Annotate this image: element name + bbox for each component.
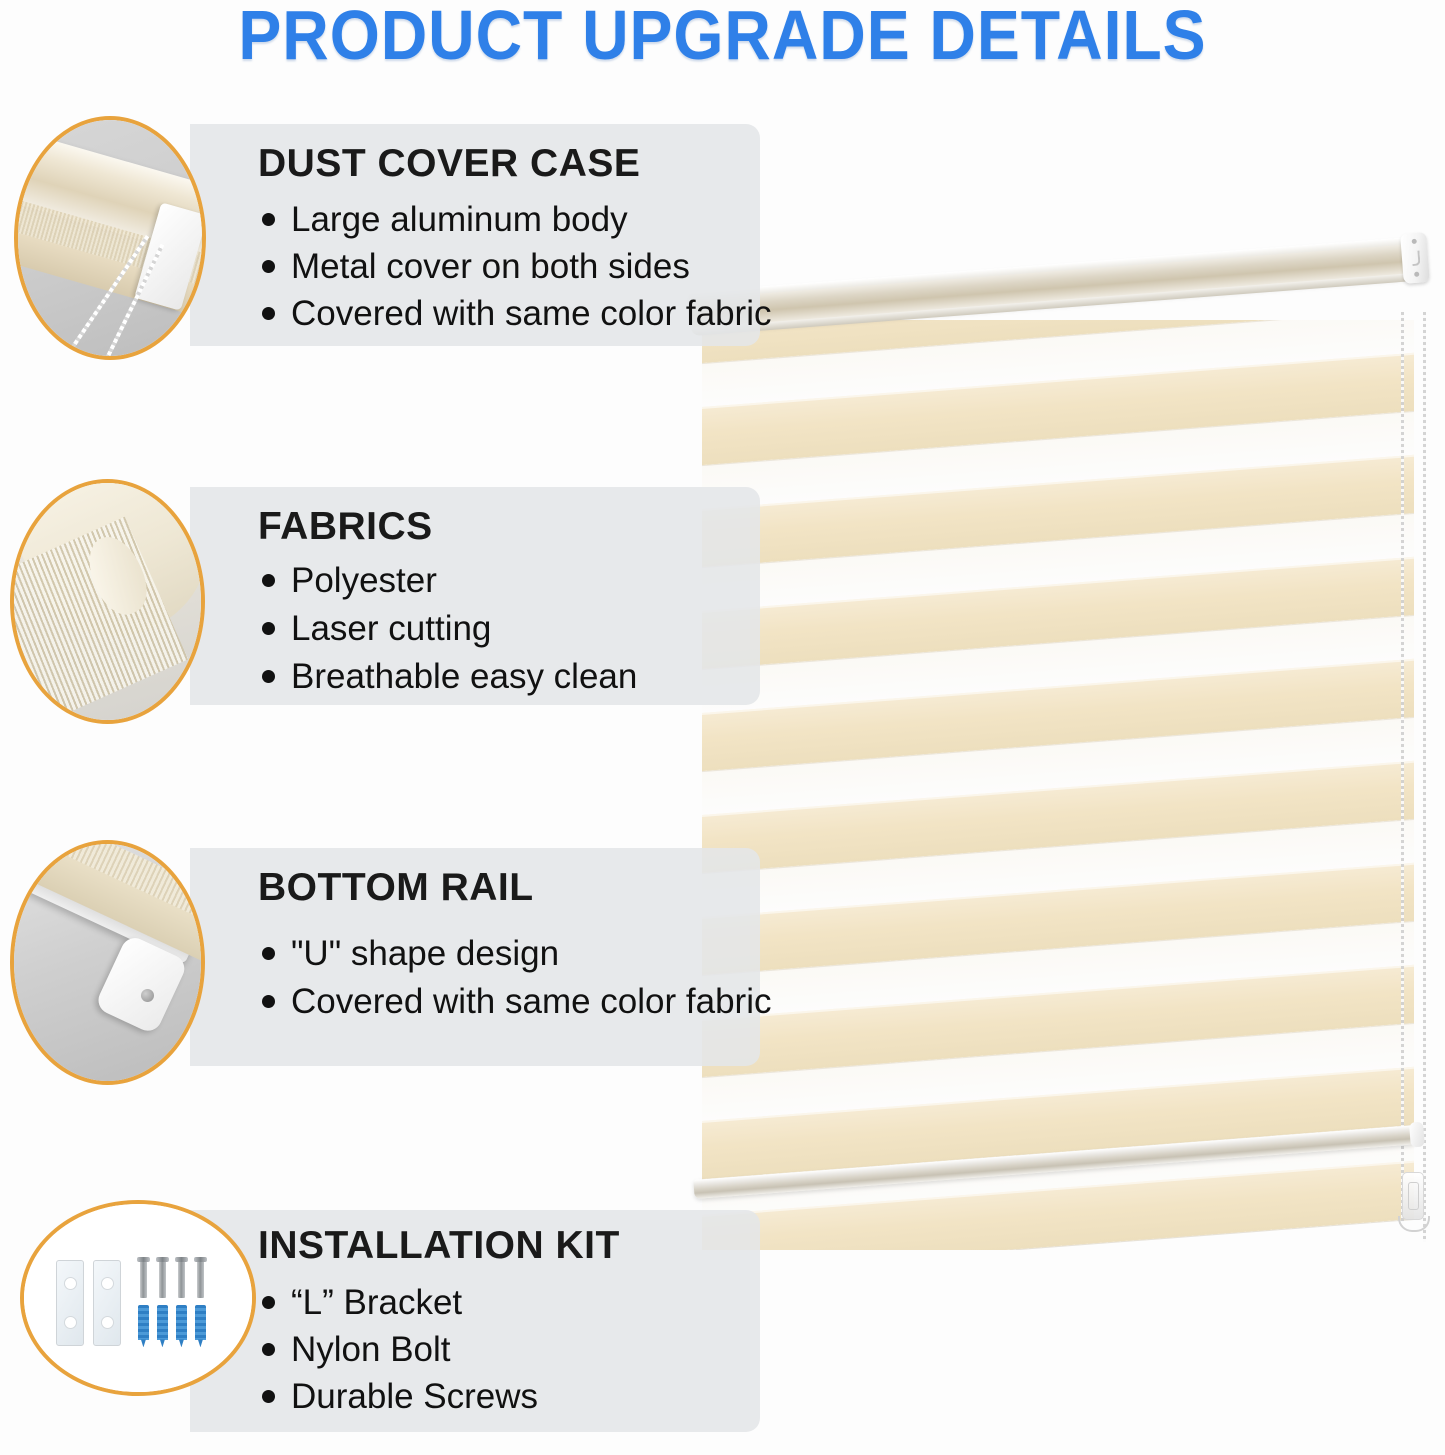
bullet-label: Breathable easy clean	[291, 657, 637, 697]
feature-bullet: Metal cover on both sides	[262, 247, 690, 287]
bullet-label: Nylon Bolt	[291, 1330, 451, 1370]
bullet-dot-icon	[262, 307, 275, 320]
feature-title: DUST COVER CASE	[258, 142, 640, 186]
bullet-dot-icon	[262, 995, 275, 1008]
l-bracket-icon	[56, 1260, 84, 1346]
product-image-zebra-blind	[676, 228, 1436, 1238]
bullet-label: Durable Screws	[291, 1377, 538, 1417]
l-bracket-icon	[93, 1260, 121, 1346]
bullet-dot-icon	[262, 574, 275, 587]
wall-anchor-icon	[138, 1305, 149, 1340]
bead-chain-right-strand	[1423, 312, 1426, 1242]
feature-bullet: Laser cutting	[262, 609, 491, 649]
screw-icon	[178, 1260, 185, 1298]
fabrics-photo	[10, 479, 205, 724]
feature-title: INSTALLATION KIT	[258, 1224, 620, 1268]
wall-anchor-icon	[195, 1305, 206, 1340]
screw-icon	[159, 1260, 166, 1298]
bullet-label: Laser cutting	[291, 609, 491, 649]
shade-fabric	[702, 320, 1414, 1250]
bullet-label: Covered with same color fabric	[291, 294, 771, 334]
headrail-top-edge	[688, 237, 1408, 299]
bottom-rail-end-cap	[1409, 1122, 1425, 1148]
screw-icon	[140, 1260, 147, 1298]
chain-connector-clip	[1402, 1172, 1424, 1220]
photo-fabrics	[14, 483, 201, 720]
bottom-rail-photo	[10, 840, 205, 1085]
feature-title: BOTTOM RAIL	[258, 866, 534, 910]
bullet-dot-icon	[262, 1296, 275, 1309]
feature-title: FABRICS	[258, 505, 433, 549]
feature-bullet: Covered with same color fabric	[262, 294, 771, 334]
photo-dust-cover-case	[18, 120, 202, 356]
feature-bullet: “L” Bracket	[262, 1283, 462, 1323]
bullet-label: Metal cover on both sides	[291, 247, 690, 287]
feature-bullet: Nylon Bolt	[262, 1330, 451, 1370]
fasteners-group	[138, 1260, 206, 1340]
screw-icon	[1411, 239, 1416, 244]
wall-anchor-icon	[176, 1305, 187, 1340]
bullet-label: Polyester	[291, 561, 437, 601]
screw-icon	[197, 1260, 204, 1298]
headrail-dust-cover	[688, 237, 1411, 332]
feature-bullet: Polyester	[262, 561, 437, 601]
bullet-label: Large aluminum body	[291, 200, 628, 240]
feature-bullet: "U" shape design	[262, 934, 559, 974]
installation-kit-photo	[20, 1200, 256, 1396]
bullet-dot-icon	[262, 1343, 275, 1356]
bullet-label: "U" shape design	[291, 934, 559, 974]
feature-bullet: Covered with same color fabric	[262, 982, 771, 1022]
feature-bullet: Breathable easy clean	[262, 657, 637, 697]
infographic-canvas: PRODUCT UPGRADE DETAILS	[0, 0, 1445, 1455]
bullet-dot-icon	[262, 670, 275, 683]
bullet-label: “L” Bracket	[291, 1283, 462, 1323]
page-title: PRODUCT UPGRADE DETAILS	[58, 2, 1387, 68]
feature-bullet: Durable Screws	[262, 1377, 538, 1417]
screw-icon	[1414, 272, 1419, 277]
bullet-dot-icon	[262, 622, 275, 635]
hook-icon	[1411, 250, 1420, 266]
photo-bottom-rail	[14, 844, 201, 1081]
feature-bullet: Large aluminum body	[262, 200, 628, 240]
bullet-label: Covered with same color fabric	[291, 982, 771, 1022]
photo-installation-kit	[24, 1204, 252, 1392]
dust-cover-case-photo	[14, 116, 206, 360]
bead-chain-left-strand	[1401, 312, 1404, 1222]
headrail-end-cap	[1400, 232, 1430, 284]
wall-anchor-icon	[157, 1305, 168, 1340]
bullet-dot-icon	[262, 1390, 275, 1403]
bullet-dot-icon	[262, 213, 275, 226]
bullet-dot-icon	[262, 260, 275, 273]
bullet-dot-icon	[262, 947, 275, 960]
